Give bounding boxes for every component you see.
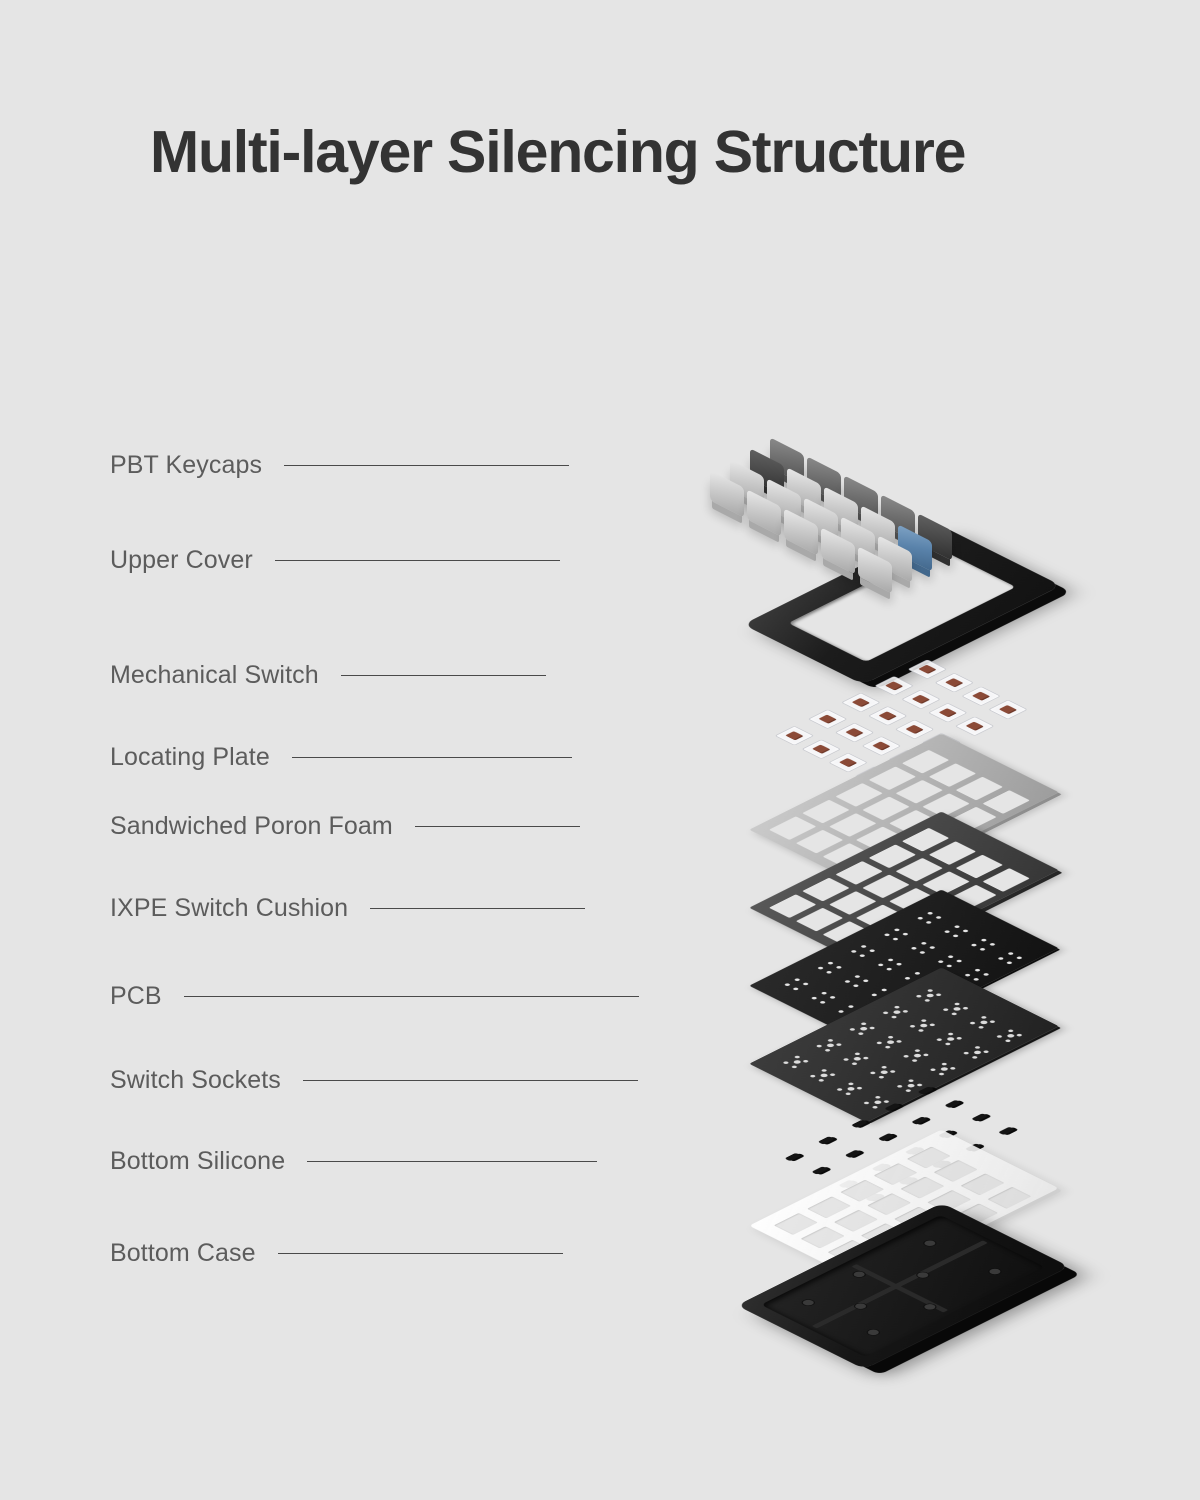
layer-label-row: IXPE Switch Cushion xyxy=(110,891,585,925)
ixpe-hole xyxy=(910,946,917,950)
layer-label-row: Upper Cover xyxy=(110,543,560,577)
mechanical-switch xyxy=(841,693,881,713)
pcb-pad xyxy=(836,1088,843,1092)
ixpe-hole xyxy=(869,949,876,953)
layer-label-row: Bottom Case xyxy=(110,1236,563,1270)
pcb-pad xyxy=(809,1074,816,1078)
switch-socket xyxy=(811,1166,828,1174)
layer-label-text: IXPE Switch Cushion xyxy=(110,894,348,923)
ixpe-hole xyxy=(819,1001,826,1005)
leader-line xyxy=(307,1161,597,1162)
pcb-pad xyxy=(859,1026,869,1031)
pcb-pad xyxy=(917,1029,924,1033)
mechanical-switch xyxy=(955,716,995,736)
ixpe-hole xyxy=(964,973,971,977)
pcb-pad xyxy=(869,1026,876,1030)
pcb-pad xyxy=(884,1045,891,1049)
silicone-pocket xyxy=(874,1163,918,1185)
pcb-pad xyxy=(876,1041,883,1045)
pcb-pad xyxy=(912,1053,922,1058)
pcb-pad xyxy=(946,1037,956,1042)
layer-label-row: Locating Plate xyxy=(110,740,572,774)
layer-label-text: PBT Keycaps xyxy=(110,451,262,480)
mechanical-switch xyxy=(961,686,1001,706)
pcb-pad xyxy=(857,1032,864,1036)
pcb-pad xyxy=(842,1058,849,1062)
pcb-pad xyxy=(847,1082,854,1086)
pcb-pad xyxy=(826,1043,836,1048)
silicone-pocket xyxy=(934,1160,978,1182)
screw-standoff xyxy=(921,1239,939,1248)
ixpe-hole xyxy=(927,911,934,915)
pcb-pad xyxy=(892,1010,902,1015)
pcb-pad xyxy=(827,1039,834,1043)
leader-line xyxy=(303,1080,638,1081)
mechanical-switch xyxy=(828,753,868,773)
switch-socket xyxy=(818,1136,835,1144)
pcb-pad xyxy=(802,1059,809,1063)
ixpe-hole xyxy=(854,975,861,979)
silicone-pocket xyxy=(840,1180,884,1202)
layer-label-row: Bottom Silicone xyxy=(110,1144,597,1178)
pcb-pad xyxy=(903,1055,910,1059)
ixpe-hole xyxy=(827,961,834,965)
mechanical-switch xyxy=(801,739,841,759)
mechanical-switch xyxy=(868,706,908,726)
screw-standoff xyxy=(986,1267,1004,1276)
pcb-pad xyxy=(819,1073,829,1078)
pcb-pad xyxy=(791,1065,798,1069)
leader-line xyxy=(275,560,560,561)
pcb-pad xyxy=(824,1049,831,1053)
case-rib xyxy=(812,1240,988,1328)
pcb-pad xyxy=(1007,1029,1014,1033)
switch-socket xyxy=(971,1113,988,1121)
ixpe-hole xyxy=(887,958,894,962)
pcb-pad xyxy=(879,1070,889,1075)
pcb-pad xyxy=(942,1008,949,1012)
ixpe-hole xyxy=(973,978,980,982)
switch-socket xyxy=(878,1133,895,1141)
ixpe-hole xyxy=(860,945,867,949)
pcb-pad xyxy=(1004,1039,1011,1043)
ixpe-hole xyxy=(980,938,987,942)
mechanical-switch xyxy=(901,689,941,709)
pcb-pad xyxy=(849,1028,856,1032)
switch-socket xyxy=(944,1100,961,1108)
ixpe-hole xyxy=(792,987,799,991)
layer-label-text: Bottom Case xyxy=(110,1239,256,1268)
ixpe-hole xyxy=(859,954,866,958)
ixpe-hole xyxy=(947,955,954,959)
ixpe-hole xyxy=(811,996,818,1000)
pcb-pad xyxy=(924,999,931,1003)
pcb-pad xyxy=(922,1053,929,1057)
layer-label-text: Mechanical Switch xyxy=(110,661,319,690)
plate-cutout xyxy=(982,868,1029,892)
pcb-pad xyxy=(963,1051,970,1055)
ixpe-hole xyxy=(883,933,890,937)
mechanical-switch xyxy=(928,703,968,723)
pcb-pad xyxy=(818,1079,825,1083)
ixpe-hole xyxy=(852,984,859,988)
layer-label-text: Sandwiched Poron Foam xyxy=(110,812,393,841)
switch-socket xyxy=(917,1086,934,1094)
ixpe-hole xyxy=(892,937,899,941)
ixpe-hole xyxy=(893,928,900,932)
pcb-pad xyxy=(852,1056,862,1061)
pcb-pad xyxy=(915,994,922,998)
switch-socket xyxy=(911,1116,928,1124)
layer-label-row: PBT Keycaps xyxy=(110,448,569,482)
ixpe-hole xyxy=(925,921,932,925)
pcb-pad xyxy=(896,1040,903,1044)
layer-label-row: Switch Sockets xyxy=(110,1063,638,1097)
mechanical-switch xyxy=(908,659,948,679)
switch-socket xyxy=(784,1153,801,1161)
layer-label-text: Switch Sockets xyxy=(110,1066,281,1095)
leader-line xyxy=(278,1253,563,1254)
ixpe-hole xyxy=(917,916,924,920)
pcb-pad xyxy=(851,1062,858,1066)
ixpe-hole xyxy=(979,948,986,952)
ixpe-hole xyxy=(881,988,888,992)
ixpe-hole xyxy=(877,963,884,967)
pcb-pad xyxy=(829,1073,836,1077)
mechanical-switch xyxy=(934,673,974,693)
ixpe-hole xyxy=(929,946,936,950)
silicone-pocket xyxy=(907,1147,951,1169)
pcb-pad xyxy=(974,1046,981,1050)
pcb-pad xyxy=(862,1056,869,1060)
pcb-pad xyxy=(891,1015,898,1019)
pcb-pad xyxy=(794,1055,801,1059)
switch-socket xyxy=(884,1103,901,1111)
ixpe-hole xyxy=(956,959,963,963)
pcb-pad xyxy=(869,1071,876,1075)
silicone-pocket xyxy=(867,1193,911,1215)
pcb-pad xyxy=(979,1020,989,1025)
exploded-keyboard-diagram xyxy=(700,400,1120,1330)
silicone-pocket xyxy=(774,1213,818,1235)
pcb-pad xyxy=(792,1059,802,1064)
layer-label-row: Mechanical Switch xyxy=(110,658,546,692)
ixpe-hole xyxy=(850,950,857,954)
pcb-pad xyxy=(935,993,942,997)
pcb-pad xyxy=(936,1038,943,1042)
pcb-pad xyxy=(996,1035,1003,1039)
layer-label-text: Bottom Silicone xyxy=(110,1147,285,1176)
mechanical-switch xyxy=(874,676,914,696)
silicone-pocket xyxy=(834,1210,878,1232)
ixpe-hole xyxy=(802,982,809,986)
pcb-pad xyxy=(953,1002,960,1006)
ixpe-hole xyxy=(919,951,926,955)
ixpe-hole xyxy=(817,966,824,970)
pcb-pad xyxy=(856,1086,863,1090)
ixpe-hole xyxy=(1006,961,1013,965)
ixpe-hole xyxy=(835,966,842,970)
layer-label-text: Upper Cover xyxy=(110,546,253,575)
pcb-pad xyxy=(920,1019,927,1023)
mechanical-switch xyxy=(775,726,815,746)
pcb-pad xyxy=(919,1023,929,1028)
pcb-pad xyxy=(947,1032,954,1036)
layer-label-text: PCB xyxy=(110,982,162,1011)
layer-label-text: Locating Plate xyxy=(110,743,270,772)
leader-line xyxy=(184,996,639,997)
mechanical-switch xyxy=(835,723,875,743)
ixpe-hole xyxy=(826,971,833,975)
ixpe-hole xyxy=(829,996,836,1000)
ixpe-hole xyxy=(794,978,801,982)
ixpe-hole xyxy=(902,932,909,936)
ixpe-hole xyxy=(821,991,828,995)
pcb-pad xyxy=(816,1044,823,1048)
ixpe-hole xyxy=(914,972,921,976)
ixpe-hole xyxy=(962,929,969,933)
ixpe-hole xyxy=(970,943,977,947)
layer-label-row: Sandwiched Poron Foam xyxy=(110,809,580,843)
ixpe-hole xyxy=(937,960,944,964)
ixpe-hole xyxy=(784,983,791,987)
pcb-pad xyxy=(854,1052,861,1056)
ixpe-hole xyxy=(904,977,911,981)
leader-line xyxy=(292,757,572,758)
ixpe-hole xyxy=(946,964,953,968)
layer-label-row: PCB xyxy=(110,979,639,1013)
pcb-pad xyxy=(1006,1033,1016,1038)
ixpe-hole xyxy=(974,968,981,972)
pcb-pad xyxy=(1016,1033,1023,1037)
pcb-pad xyxy=(956,1037,963,1041)
ixpe-hole xyxy=(997,957,1004,961)
ixpe-hole xyxy=(944,930,951,934)
pcb-pad xyxy=(971,1056,978,1060)
ixpe-hole xyxy=(871,993,878,997)
ixpe-hole xyxy=(1007,952,1014,956)
pcb-pad xyxy=(909,1024,916,1028)
silicone-pocket xyxy=(900,1177,944,1199)
mechanical-switch xyxy=(808,709,848,729)
leader-line xyxy=(370,908,585,909)
plate-cutout xyxy=(982,790,1029,814)
pcb-pad xyxy=(887,1035,894,1039)
pcb-pad xyxy=(969,1021,976,1025)
pcb-pad xyxy=(927,989,934,993)
layer-label-list: PBT KeycapsUpper CoverMechanical SwitchL… xyxy=(0,0,700,1500)
pcb-pad xyxy=(835,1043,842,1047)
ixpe-hole xyxy=(847,1005,854,1009)
pcb-pad xyxy=(929,1023,936,1027)
mechanical-switch xyxy=(895,719,935,739)
ixpe-hole xyxy=(886,967,893,971)
pcb-pad xyxy=(982,1050,989,1054)
pcb-pad xyxy=(978,1026,985,1030)
screw-standoff xyxy=(864,1328,882,1337)
pcb-pad xyxy=(893,1005,900,1009)
pcb-pad xyxy=(944,1042,951,1046)
pcb-pad xyxy=(980,1016,987,1020)
pcb-pad xyxy=(952,1006,962,1011)
pcb-pad xyxy=(973,1050,983,1055)
leader-line xyxy=(415,826,580,827)
silicone-pocket xyxy=(801,1226,845,1248)
pcb-pad xyxy=(845,1092,852,1096)
pcb-pad xyxy=(881,1066,888,1070)
silicone-pocket xyxy=(961,1173,1005,1195)
pcb-pad xyxy=(914,1049,921,1053)
pcb-pad xyxy=(951,1012,958,1016)
switch-socket xyxy=(998,1127,1015,1135)
ixpe-hole xyxy=(989,943,996,947)
pcb-pad xyxy=(962,1006,969,1010)
pcb-pad xyxy=(889,1070,896,1074)
leader-line xyxy=(284,465,569,466)
pcb-pad xyxy=(782,1061,789,1065)
pcb-pad xyxy=(989,1020,996,1024)
silicone-pocket xyxy=(987,1187,1031,1209)
ixpe-hole xyxy=(953,925,960,929)
pcb-pad xyxy=(878,1075,885,1079)
screw-standoff xyxy=(799,1298,817,1307)
ixpe-hole xyxy=(844,980,851,984)
pcb-pad xyxy=(882,1011,889,1015)
pcb-pad xyxy=(886,1040,896,1045)
mechanical-switch xyxy=(862,736,902,756)
ixpe-hole xyxy=(862,979,869,983)
switch-socket xyxy=(845,1150,862,1158)
pcb-pad xyxy=(925,993,935,998)
switch-socket xyxy=(851,1120,868,1128)
ixpe-hole xyxy=(920,942,927,946)
ixpe-hole xyxy=(838,1010,845,1014)
ixpe-hole xyxy=(896,962,903,966)
ixpe-hole xyxy=(1016,956,1023,960)
pcb-pad xyxy=(821,1069,828,1073)
pcb-pad xyxy=(846,1086,856,1091)
pcb-pad xyxy=(902,1010,909,1014)
silicone-pocket xyxy=(807,1196,851,1218)
ixpe-hole xyxy=(952,934,959,938)
ixpe-hole xyxy=(982,973,989,977)
ixpe-hole xyxy=(935,916,942,920)
pcb-pad xyxy=(911,1059,918,1063)
mechanical-switch xyxy=(988,700,1028,720)
leader-line xyxy=(341,675,546,676)
keycap-set xyxy=(730,440,1090,560)
pcb-pad xyxy=(860,1022,867,1026)
